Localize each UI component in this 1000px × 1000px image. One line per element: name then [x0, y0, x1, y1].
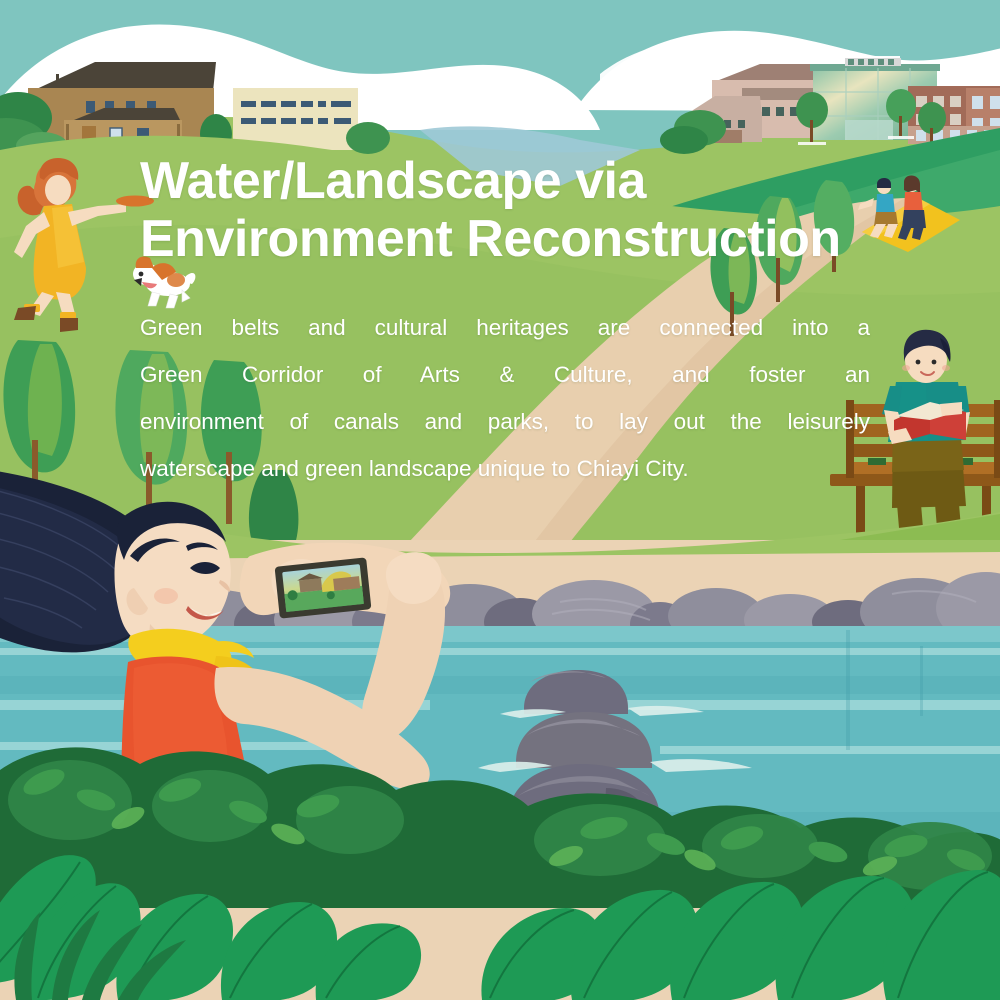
poster-illustration: Water/Landscape via Environment Reconstr…: [0, 0, 1000, 1000]
right-of-cream-bush: [346, 122, 390, 154]
scene-artwork: [0, 0, 1000, 1000]
woman-hand-right: [386, 552, 442, 604]
phone-with-photo: [275, 557, 372, 618]
frisbee: [116, 196, 154, 207]
